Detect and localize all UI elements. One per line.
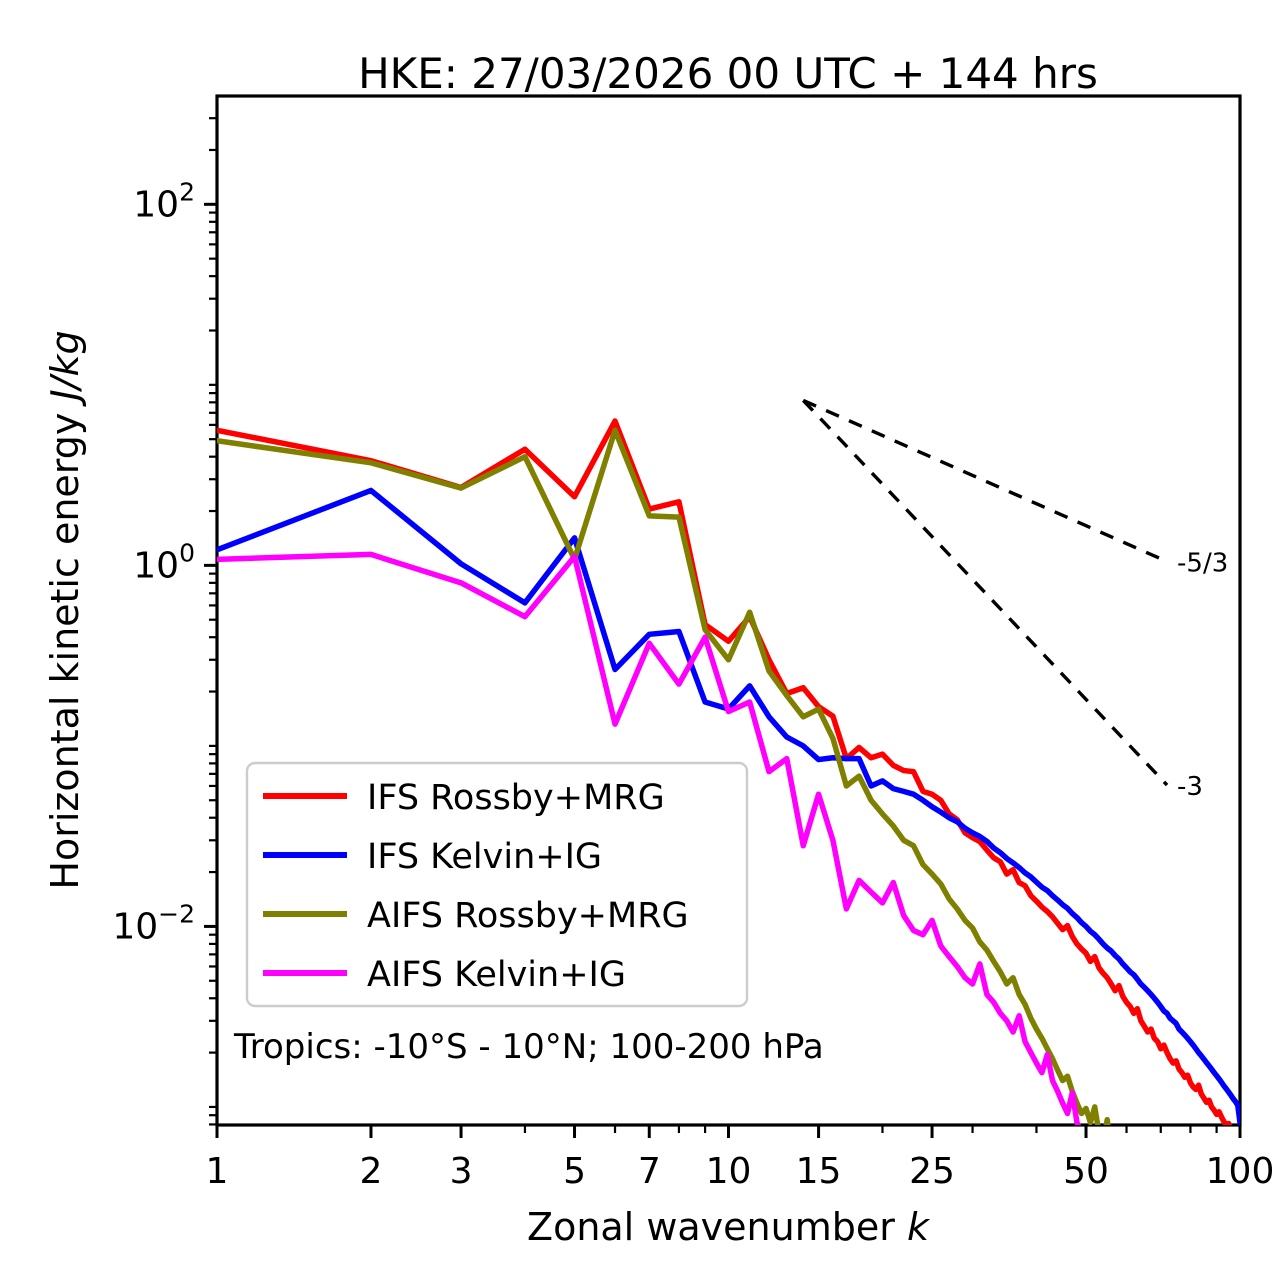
y-axis-title: Horizontal kinetic energy J/kg <box>43 330 87 889</box>
y-axis-title-plain: Horizontal kinetic energy <box>43 401 87 890</box>
x-axis-title-plain: Zonal wavenumber <box>527 1205 907 1249</box>
x-axis-title: Zonal wavenumber k <box>527 1205 931 1249</box>
x-tick-label-2: 2 <box>360 1151 383 1192</box>
y-tick-mantissa: 10 <box>133 184 179 225</box>
x-tick-label-5: 5 <box>563 1151 586 1192</box>
y-tick-mantissa: 10 <box>112 906 158 947</box>
y-axis-title-italic: J/kg <box>43 330 87 407</box>
legend-label-1[interactable]: IFS Kelvin+IG <box>367 837 602 877</box>
x-axis-title-italic: k <box>907 1205 931 1249</box>
chart-title: HKE: 27/03/2026 00 UTC + 144 hrs <box>358 49 1098 98</box>
x-tick-label-15: 15 <box>796 1151 842 1192</box>
region-annotation: Tropics: -10°S - 10°N; 100-200 hPa <box>233 1027 824 1067</box>
x-tick-label-1: 1 <box>206 1151 229 1192</box>
x-tick-label-100: 100 <box>1206 1151 1275 1192</box>
x-tick-label-10: 10 <box>706 1151 752 1192</box>
slope-label--5/3: -5/3 <box>1177 549 1228 579</box>
y-tick-mantissa: 10 <box>133 545 179 586</box>
y-tick-exponent: 2 <box>179 177 195 206</box>
legend-label-0[interactable]: IFS Rossby+MRG <box>367 778 665 818</box>
hke-spectrum-chart: HKE: 27/03/2026 00 UTC + 144 hrs 1235710… <box>0 0 1280 1288</box>
x-tick-label-7: 7 <box>638 1151 661 1192</box>
x-axis-ticks <box>217 1125 1240 1138</box>
legend-label-2[interactable]: AIFS Rossby+MRG <box>367 896 689 936</box>
slope-label--3: -3 <box>1177 772 1203 802</box>
legend[interactable]: IFS Rossby+MRGIFS Kelvin+IGAIFS Rossby+M… <box>247 763 747 1006</box>
x-tick-label-25: 25 <box>909 1151 955 1192</box>
x-tick-label-50: 50 <box>1063 1151 1109 1192</box>
chart-page: HKE: 27/03/2026 00 UTC + 144 hrs 1235710… <box>0 0 1280 1288</box>
x-tick-label-3: 3 <box>450 1151 473 1192</box>
legend-label-3[interactable]: AIFS Kelvin+IG <box>367 955 626 995</box>
y-tick-exponent: −2 <box>158 899 195 928</box>
y-tick-exponent: 0 <box>179 538 195 567</box>
